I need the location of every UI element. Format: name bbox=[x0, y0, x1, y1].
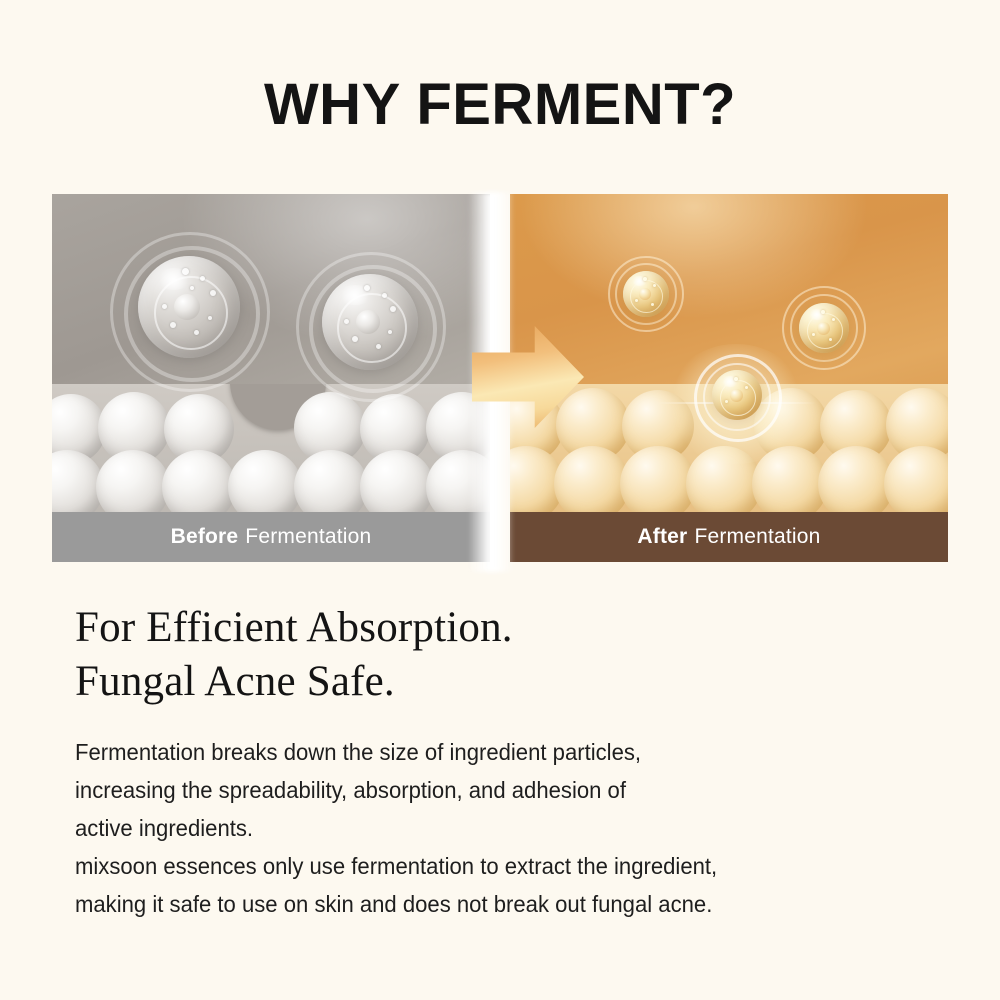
transformation-arrow bbox=[450, 322, 586, 432]
body-line: active ingredients. bbox=[75, 809, 902, 847]
micro-bubble bbox=[194, 330, 199, 335]
body-line: Fermentation breaks down the size of ing… bbox=[75, 733, 902, 771]
micro-bubble bbox=[364, 285, 370, 291]
after-molecule-absorbing bbox=[694, 354, 780, 440]
micro-bubble bbox=[210, 290, 216, 296]
micro-bubble bbox=[208, 316, 212, 320]
micro-bubble bbox=[725, 400, 728, 403]
micro-bubble bbox=[182, 268, 189, 275]
skin-cell bbox=[294, 450, 368, 512]
micro-bubble bbox=[390, 306, 396, 312]
before-skin-layer bbox=[52, 384, 490, 512]
before-panel: Before Fermentation bbox=[52, 194, 490, 562]
molecule-droplet bbox=[712, 370, 762, 420]
micro-bubble bbox=[388, 330, 392, 334]
after-molecule bbox=[608, 256, 684, 332]
before-caption-strong: Before bbox=[171, 525, 239, 549]
micro-bubble bbox=[812, 333, 815, 336]
molecule-droplet bbox=[799, 303, 849, 353]
skin-cell bbox=[554, 446, 630, 512]
micro-bubble bbox=[352, 336, 358, 342]
droplet-core bbox=[817, 322, 830, 335]
after-caption-strong: After bbox=[637, 525, 687, 549]
after-molecule bbox=[782, 286, 866, 370]
body-line: making it safe to use on skin and does n… bbox=[75, 885, 902, 923]
droplet-core bbox=[639, 288, 651, 300]
before-after-comparison: Before Fermentation bbox=[52, 194, 948, 562]
skin-cell bbox=[162, 450, 236, 512]
micro-bubble bbox=[734, 377, 738, 381]
droplet-core bbox=[730, 389, 743, 402]
headline-line-2: Fungal Acne Safe. bbox=[75, 655, 513, 709]
before-illustration bbox=[52, 194, 490, 512]
skin-cell bbox=[884, 446, 948, 512]
micro-bubble bbox=[635, 299, 638, 302]
micro-bubble bbox=[643, 277, 647, 281]
micro-bubble bbox=[651, 303, 654, 306]
molecule-droplet bbox=[623, 271, 669, 317]
page-title: WHY FERMENT? bbox=[0, 76, 1000, 134]
micro-bubble bbox=[829, 338, 832, 341]
before-molecule bbox=[110, 232, 270, 392]
skin-cell bbox=[620, 446, 696, 512]
micro-bubble bbox=[200, 276, 205, 281]
before-caption-light: Fermentation bbox=[245, 525, 371, 549]
micro-bubble bbox=[162, 304, 167, 309]
droplet-core bbox=[356, 310, 380, 334]
micro-bubble bbox=[832, 318, 835, 321]
before-caption-bar: Before Fermentation bbox=[52, 512, 490, 562]
skin-cell bbox=[360, 450, 434, 512]
after-caption-bar: After Fermentation bbox=[510, 512, 948, 562]
micro-bubble bbox=[745, 386, 748, 389]
body-line: increasing the spreadability, absorption… bbox=[75, 771, 902, 809]
headline-line-1: For Efficient Absorption. bbox=[75, 601, 513, 655]
skin-cell bbox=[818, 446, 894, 512]
micro-bubble bbox=[344, 319, 349, 324]
molecule-droplet bbox=[138, 256, 240, 358]
body-line: mixsoon essences only use fermentation t… bbox=[75, 847, 902, 885]
before-molecule bbox=[296, 252, 446, 402]
micro-bubble bbox=[653, 284, 656, 287]
micro-bubble bbox=[376, 344, 381, 349]
body-copy: Fermentation breaks down the size of ing… bbox=[75, 733, 902, 923]
molecule-droplet bbox=[322, 274, 418, 370]
after-caption-light: Fermentation bbox=[694, 525, 820, 549]
micro-bubble bbox=[190, 286, 194, 290]
skin-cell bbox=[96, 450, 170, 512]
micro-bubble bbox=[382, 293, 387, 298]
headline: For Efficient Absorption. Fungal Acne Sa… bbox=[75, 601, 513, 709]
skin-cell bbox=[228, 450, 302, 512]
micro-bubble bbox=[821, 310, 825, 314]
droplet-core bbox=[174, 294, 200, 320]
micro-bubble bbox=[170, 322, 176, 328]
